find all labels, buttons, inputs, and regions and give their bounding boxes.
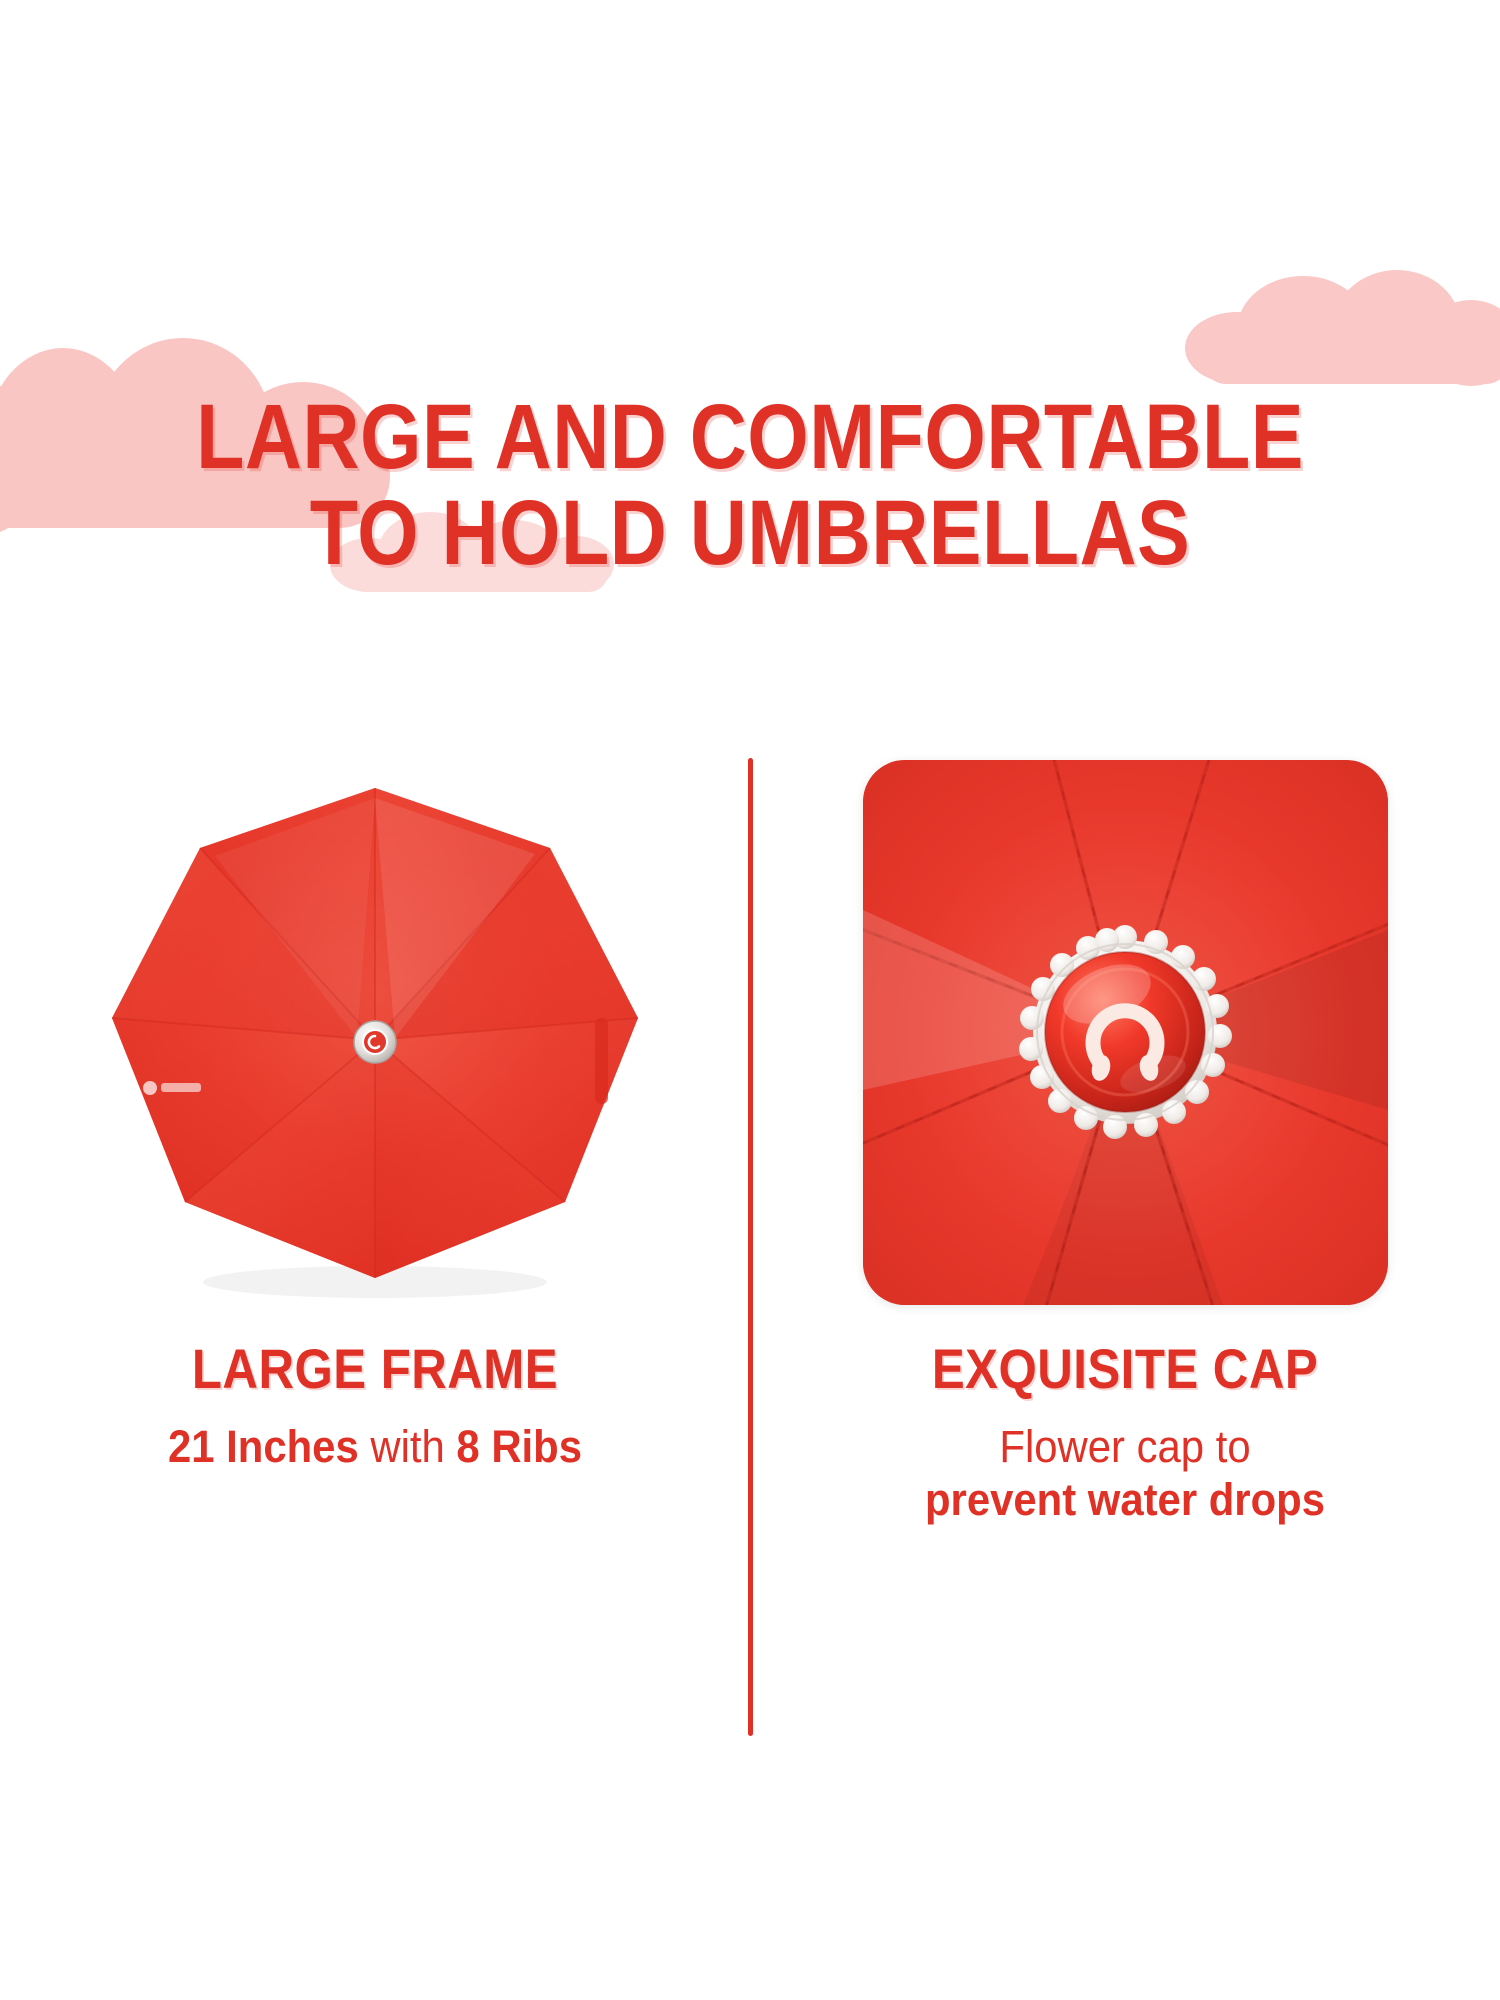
headline-line-1: LARGE AND COMFORTABLE — [105, 392, 1395, 482]
caption-sub-bold-inches: 21 Inches — [168, 1421, 359, 1472]
red-umbrella-canopy-image — [95, 770, 655, 1315]
canopy-center-hub — [354, 1021, 396, 1063]
cloud-lobe — [1203, 338, 1500, 384]
cloud-lobe — [1185, 312, 1289, 384]
caption-title-large-frame: LARGE FRAME — [45, 1340, 705, 1398]
caption-sub-regular-with: with — [359, 1421, 457, 1472]
right-panel-caption: EXQUISITE CAP Flower cap to prevent wate… — [750, 1340, 1500, 1526]
feature-panel-large-frame: LARGE FRAME 21 Inches with 8 Ribs — [0, 740, 750, 1760]
umbrella-cap-closeup-image — [863, 760, 1388, 1305]
page-headline: LARGE AND COMFORTABLE TO HOLD UMBRELLAS — [0, 392, 1500, 578]
cloud-lobe — [1423, 300, 1500, 386]
caption-sub-line-1: Flower cap to — [776, 1420, 1474, 1473]
left-panel-caption: LARGE FRAME 21 Inches with 8 Ribs — [0, 1340, 750, 1473]
caption-sub-exquisite-cap: Flower cap to prevent water drops — [776, 1420, 1474, 1526]
left-panel-media — [0, 740, 750, 1320]
cloud-lobe — [1333, 270, 1461, 384]
cloud-decoration-top-right — [1185, 270, 1500, 385]
caption-sub-large-frame: 21 Inches with 8 Ribs — [26, 1420, 724, 1473]
flower-cap-dome — [1045, 952, 1205, 1112]
feature-panels: LARGE FRAME 21 Inches with 8 Ribs — [0, 740, 1500, 1760]
caption-sub-bold-ribs: 8 Ribs — [456, 1421, 582, 1472]
feature-panel-exquisite-cap: EXQUISITE CAP Flower cap to prevent wate… — [750, 740, 1500, 1760]
right-panel-media — [750, 740, 1500, 1320]
cloud-lobe — [1237, 276, 1369, 384]
headline-line-2: TO HOLD UMBRELLAS — [105, 488, 1395, 578]
caption-sub-line-2: prevent water drops — [776, 1473, 1474, 1526]
caption-title-exquisite-cap: EXQUISITE CAP — [795, 1340, 1455, 1398]
